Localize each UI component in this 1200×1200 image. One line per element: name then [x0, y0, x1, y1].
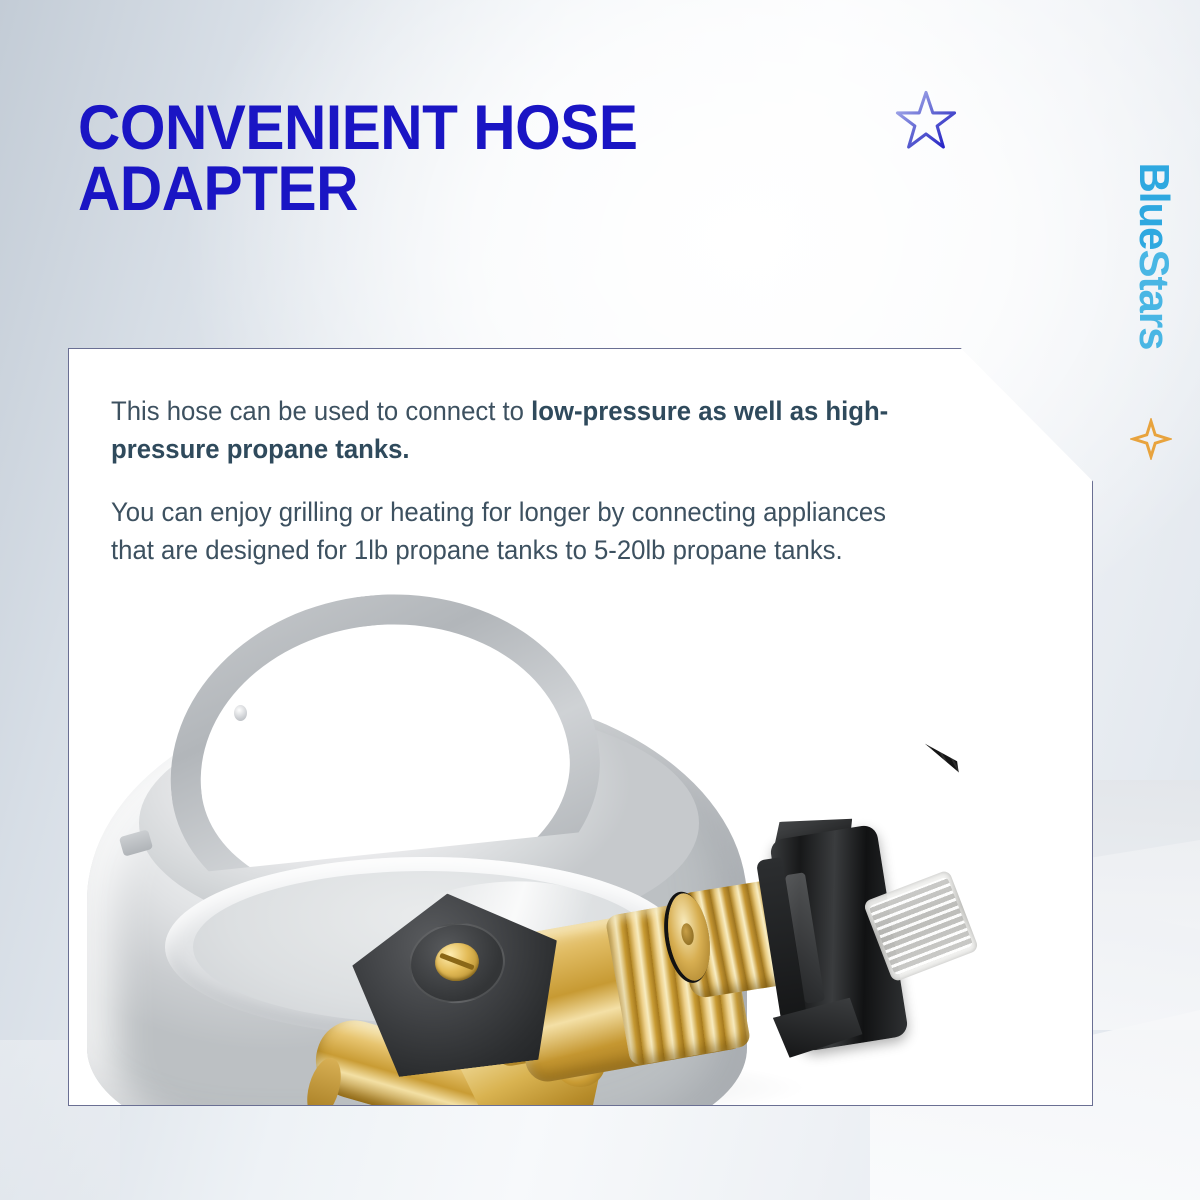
five-point-star-outline-icon: [895, 90, 957, 152]
card-copy: This hose can be used to connect to low-…: [111, 393, 931, 570]
headline-line-1: CONVENIENT HOSE: [78, 93, 637, 163]
paragraph-1-lead: This hose can be used to connect to: [111, 396, 531, 426]
headline-line-2: ADAPTER: [78, 159, 878, 220]
sparkle-star-icon: [1130, 418, 1172, 460]
brand-logo-text: BlueStars: [1133, 162, 1175, 349]
tank-collar-hole: [234, 705, 247, 721]
paragraph-1: This hose can be used to connect to low-…: [111, 393, 906, 468]
hose-highlight: [927, 585, 1093, 822]
brand-logo: BlueStars: [1122, 86, 1186, 426]
page-title: CONVENIENT HOSE ADAPTER: [78, 98, 878, 220]
brand-name-part2: Stars: [1131, 249, 1178, 349]
brand-name-part1: Blue: [1131, 162, 1178, 249]
product-photo: [69, 585, 1093, 1106]
paragraph-2: You can enjoy grilling or heating for lo…: [111, 494, 906, 569]
info-card: This hose can be used to connect to low-…: [68, 348, 1093, 1106]
